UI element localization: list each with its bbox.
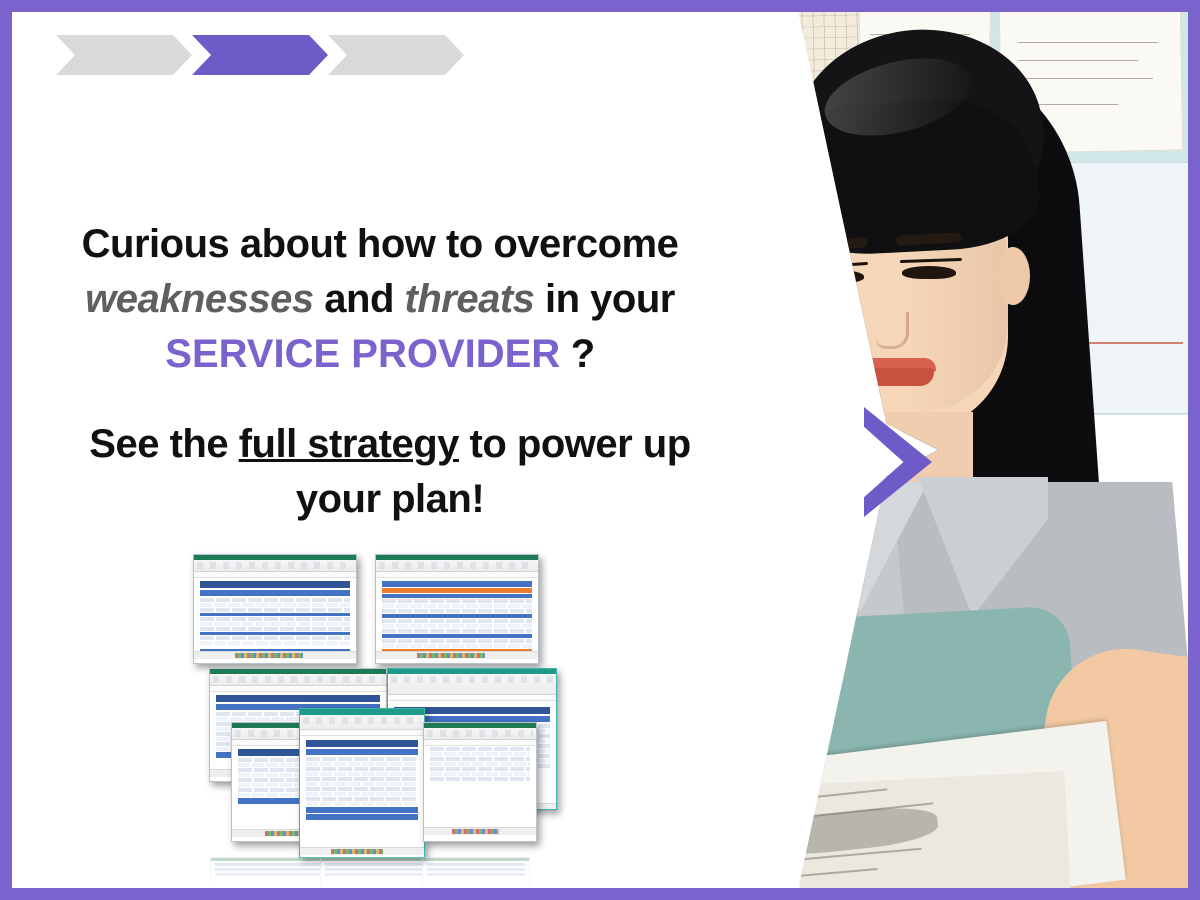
wall-bar-chart-orange (768, 217, 802, 337)
pen-icon (741, 250, 784, 371)
cta-to-power-up: to power up (459, 422, 691, 466)
headline-in-your: in your (534, 277, 674, 321)
sheet-ribbon (194, 560, 356, 572)
figure-ear (996, 247, 1030, 305)
figure-eye-right (902, 266, 956, 279)
headline-question-mark: ? (560, 332, 595, 376)
collage-reflection (200, 857, 540, 888)
chevron-step-3[interactable] (328, 35, 464, 75)
headline-line-3: SERVICE PROVIDER ? (30, 327, 730, 382)
slide-frame: Curious about how to overcome weaknesses… (0, 0, 1200, 900)
headline-line-1: Curious about how to overcome (30, 217, 730, 272)
headline-threats: threats (405, 277, 535, 321)
figure-nose (876, 312, 909, 349)
headline-and: and (314, 277, 405, 321)
headline-text: Curious about how to overcome weaknesses… (30, 217, 730, 383)
sheet-thumbnail-2[interactable] (375, 554, 539, 664)
headline-service-provider: SERVICE PROVIDER (165, 332, 560, 376)
wall-bar-chart-teal (756, 312, 798, 348)
figure-lips-lower (862, 368, 934, 386)
cta-see-the: See the (89, 422, 238, 466)
sheet-formula-bar (194, 572, 356, 578)
excel-thumbnail-collage[interactable] (187, 550, 547, 860)
figure-eye-left (812, 270, 864, 283)
progress-chevron-bar (44, 35, 504, 87)
sheet-grid (194, 581, 356, 659)
cta-full-strategy[interactable]: full strategy (239, 422, 459, 466)
cta-line-2: your plan! (30, 472, 750, 527)
sheet-thumbnail-7[interactable] (423, 722, 537, 842)
sheet-thumbnail-1[interactable] (193, 554, 357, 664)
chevron-step-2-active[interactable] (192, 35, 328, 75)
chevron-step-1[interactable] (56, 35, 192, 75)
headline-weaknesses: weaknesses (85, 277, 314, 321)
cta-line-1: See the full strategy to power up (30, 417, 750, 472)
sheet-thumbnail-6-front[interactable] (299, 708, 425, 858)
slide-canvas: Curious about how to overcome weaknesses… (12, 12, 1188, 888)
pen-tip (765, 356, 783, 384)
headline-line-2: weaknesses and threats in your (30, 272, 730, 327)
figure-hand (747, 334, 852, 459)
cta-text: See the full strategy to power up your p… (30, 417, 750, 527)
